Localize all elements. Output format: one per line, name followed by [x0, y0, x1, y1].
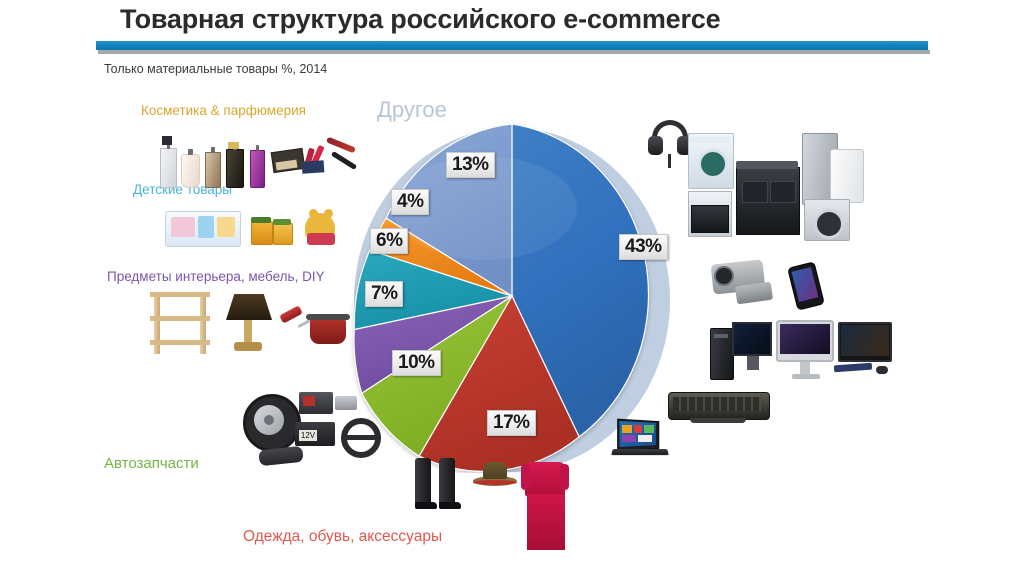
headphone-earcup-icon	[648, 136, 663, 155]
pie-value-label-7: 7%	[365, 281, 403, 307]
boot-icon	[439, 458, 455, 506]
lamp-base-icon	[234, 342, 262, 351]
perfume-bottle-icon	[226, 149, 244, 188]
wheel-hub-icon	[264, 415, 274, 425]
perfume-gold-label-icon	[228, 142, 239, 149]
lip-liner-icon	[326, 137, 356, 154]
jar-lid-icon	[273, 219, 291, 225]
tile-icon	[644, 425, 654, 433]
oven-window-icon	[742, 181, 768, 203]
tile-icon	[638, 435, 652, 442]
tile-icon	[634, 425, 642, 433]
battery-voltage-label: 12V	[299, 430, 317, 441]
subtitle: Только материальные товары %, 2014	[104, 62, 327, 76]
perfume-bottle-icon	[160, 148, 177, 188]
hat-crown-icon	[483, 462, 507, 479]
washer-door-icon	[698, 149, 728, 179]
pie-value-label-4: 4%	[391, 189, 429, 215]
steering-spoke-icon	[346, 435, 376, 440]
pie-value-label-13: 13%	[446, 152, 495, 178]
category-label-interior-furniture-diy: Предметы интерьера, мебель, DIY	[107, 269, 325, 284]
pie-value-label-43: 43%	[619, 234, 668, 260]
perfume-label-icon	[162, 136, 172, 145]
toy-block-icon	[307, 233, 335, 245]
category-label-auto-parts: Автозапчасти	[104, 455, 199, 472]
cooktop-icon	[736, 161, 798, 169]
imac-stand-icon	[800, 362, 810, 374]
tile-icon	[622, 425, 632, 433]
page-title: Товарная структура российского e-commerc…	[120, 4, 920, 35]
hat-band-icon	[473, 480, 517, 485]
product-cluster-auto-parts: 12V	[243, 392, 388, 468]
category-label-clothing-shoes-accessories: Одежда, обувь, аксессуары	[243, 528, 442, 546]
pot-lid-icon	[306, 314, 350, 320]
boot-sole-icon	[439, 502, 461, 509]
toy-bear-ear-icon	[324, 209, 333, 218]
shelf-board-icon	[150, 292, 210, 297]
brake-caliper-icon	[303, 396, 315, 406]
mascara-icon	[331, 151, 357, 170]
mouse-icon	[876, 366, 888, 374]
boot-sole-icon	[415, 502, 437, 509]
pie-value-label-17: 17%	[487, 410, 536, 436]
wipes-art-icon	[217, 217, 235, 237]
spark-plug-icon	[335, 396, 357, 410]
oven-window-icon	[770, 181, 796, 203]
product-cluster-appliances	[688, 133, 888, 233]
keyboard-wrist-rest-icon	[690, 418, 746, 423]
product-cluster-kids-goods	[165, 205, 345, 255]
lamp-shade-icon	[226, 294, 272, 320]
monitor-stand-icon	[747, 356, 759, 370]
dress-top-icon	[525, 462, 565, 496]
jar-lid-icon	[251, 217, 271, 223]
baby-food-jar-icon	[273, 223, 293, 245]
lipstick-case-icon	[302, 160, 325, 174]
water-heater-icon	[830, 149, 864, 203]
boot-icon	[415, 458, 431, 506]
toy-bear-ear-icon	[309, 209, 318, 218]
perfume-bottle-icon	[181, 154, 200, 188]
product-cluster-gaming-keyboard	[668, 392, 768, 422]
product-cluster-cosmetics	[160, 128, 360, 188]
pie-value-label-6: 6%	[370, 228, 408, 254]
wipes-art-icon	[171, 217, 195, 237]
slide-canvas: Товарная структура российского e-commerc…	[0, 0, 1024, 587]
imac-screen-icon	[780, 324, 830, 354]
dress-sleeve-icon	[521, 464, 530, 490]
tower-drive-bay-icon	[714, 334, 728, 338]
washer-panel-icon	[690, 137, 730, 143]
product-cluster-interior-furniture-diy	[148, 288, 348, 358]
title-rule	[96, 41, 928, 50]
screwdriver-handle-icon	[279, 305, 303, 323]
headphone-cable-icon	[668, 154, 671, 168]
muffler-icon	[258, 446, 303, 467]
keyboard-keys-icon	[673, 397, 761, 411]
stove-oven-door-icon	[691, 205, 729, 233]
title-rule-shadow	[98, 50, 930, 54]
baby-food-jar-icon	[251, 221, 273, 245]
product-cluster-laptop-tablet	[618, 420, 674, 460]
category-label-cosmetics: Косметика & парфюмерия	[141, 103, 306, 118]
dress-skirt-icon	[527, 494, 565, 550]
tile-icon	[622, 435, 636, 442]
tv-screen-icon	[841, 325, 889, 356]
washer-door-icon	[814, 209, 844, 239]
perfume-bottle-icon	[250, 150, 265, 188]
shelf-board-icon	[150, 316, 210, 321]
shelf-board-icon	[150, 340, 210, 345]
monitor-screen-icon	[734, 324, 770, 354]
product-cluster-clothing-shoes-accessories	[415, 458, 580, 568]
pie-value-label-10: 10%	[392, 350, 441, 376]
dress-sleeve-icon	[560, 464, 569, 490]
camcorder-grip-icon	[735, 282, 773, 305]
laptop-base-icon	[611, 449, 669, 455]
perfume-bottle-icon	[205, 152, 221, 188]
lamp-stem-icon	[244, 320, 252, 342]
wipes-art-icon	[198, 216, 214, 238]
product-cluster-computers	[710, 318, 900, 384]
wireless-keyboard-icon	[834, 363, 872, 373]
product-cluster-camera-phone	[712, 258, 832, 310]
cooking-pot-icon	[310, 318, 346, 344]
product-cluster-headphones	[648, 120, 692, 168]
imac-foot-icon	[792, 374, 820, 379]
